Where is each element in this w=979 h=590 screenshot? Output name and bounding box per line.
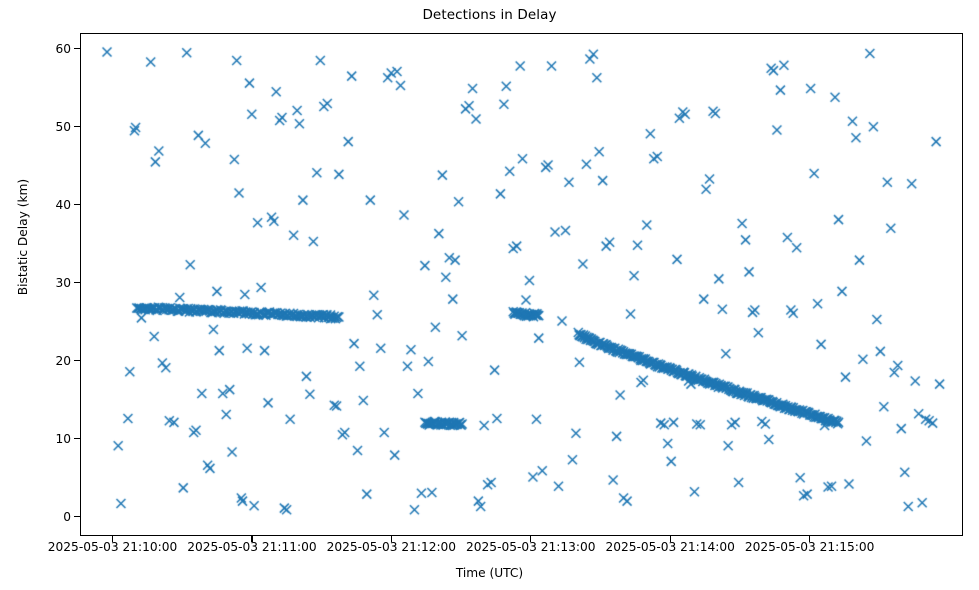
y-tick-label: 0 — [11, 510, 71, 524]
x-tick-mark — [670, 536, 671, 542]
y-tick-mark — [74, 360, 80, 361]
y-tick-mark — [74, 126, 80, 127]
x-axis-label: Time (UTC) — [0, 566, 979, 580]
y-tick-label: 50 — [11, 120, 71, 134]
y-axis-ticks: 0102030405060 — [0, 0, 71, 590]
y-tick-label: 60 — [11, 42, 71, 56]
scatter-plot-canvas — [81, 34, 963, 536]
y-tick-mark — [74, 516, 80, 517]
y-tick-label: 20 — [11, 354, 71, 368]
page-title: Detections in Delay — [0, 7, 979, 23]
matplotlib-figure: Detections in Delay 0102030405060 Bistat… — [0, 0, 979, 590]
x-tick-mark — [112, 536, 113, 542]
y-tick-mark — [74, 204, 80, 205]
x-tick-label: 2025-05-03 21:15:00 — [700, 540, 920, 554]
x-tick-mark — [530, 536, 531, 542]
y-tick-mark — [74, 48, 80, 49]
y-tick-mark — [74, 282, 80, 283]
y-tick-label: 10 — [11, 432, 71, 446]
x-tick-mark — [391, 536, 392, 542]
x-tick-mark — [251, 536, 252, 542]
plot-area — [80, 33, 963, 536]
y-tick-mark — [74, 438, 80, 439]
x-tick-mark — [809, 536, 810, 542]
y-axis-label: Bistatic Delay (km) — [16, 137, 30, 337]
